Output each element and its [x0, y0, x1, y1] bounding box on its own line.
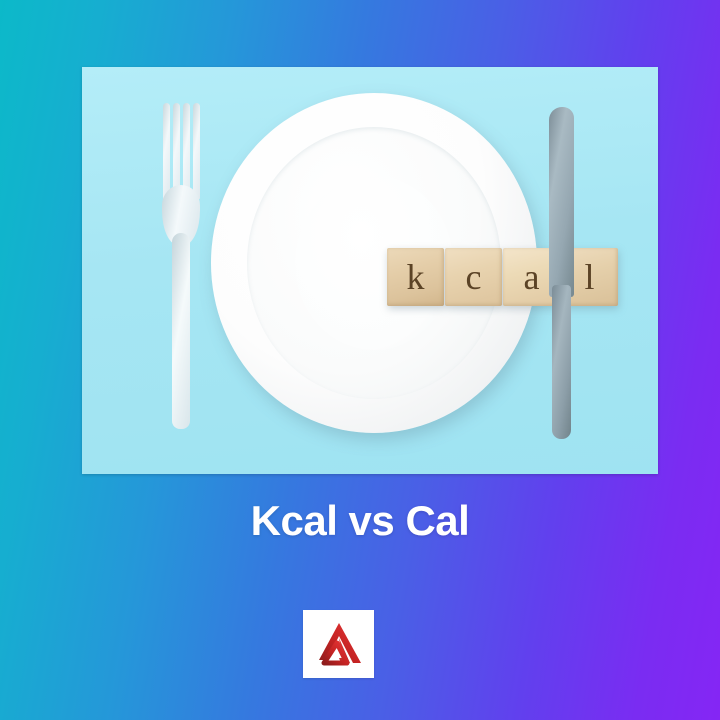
fork-icon — [160, 103, 202, 428]
knife-handle — [552, 285, 571, 439]
fork-tine — [193, 103, 200, 199]
plate: k c a l — [211, 93, 537, 433]
page-title: Kcal vs Cal — [0, 497, 720, 545]
fork-tine — [163, 103, 170, 199]
wooden-letter-blocks: k c a l — [387, 248, 618, 306]
infographic-card: k c a l Kcal vs Cal — [0, 0, 720, 720]
knife-blade — [549, 107, 574, 297]
triangular-a-logo-icon — [316, 622, 362, 666]
fork-handle — [172, 233, 190, 429]
hero-photo: k c a l — [82, 67, 658, 474]
knife-icon — [548, 107, 576, 439]
letter-block: k — [387, 248, 444, 306]
letter-block: c — [445, 248, 502, 306]
brand-logo — [303, 610, 374, 678]
